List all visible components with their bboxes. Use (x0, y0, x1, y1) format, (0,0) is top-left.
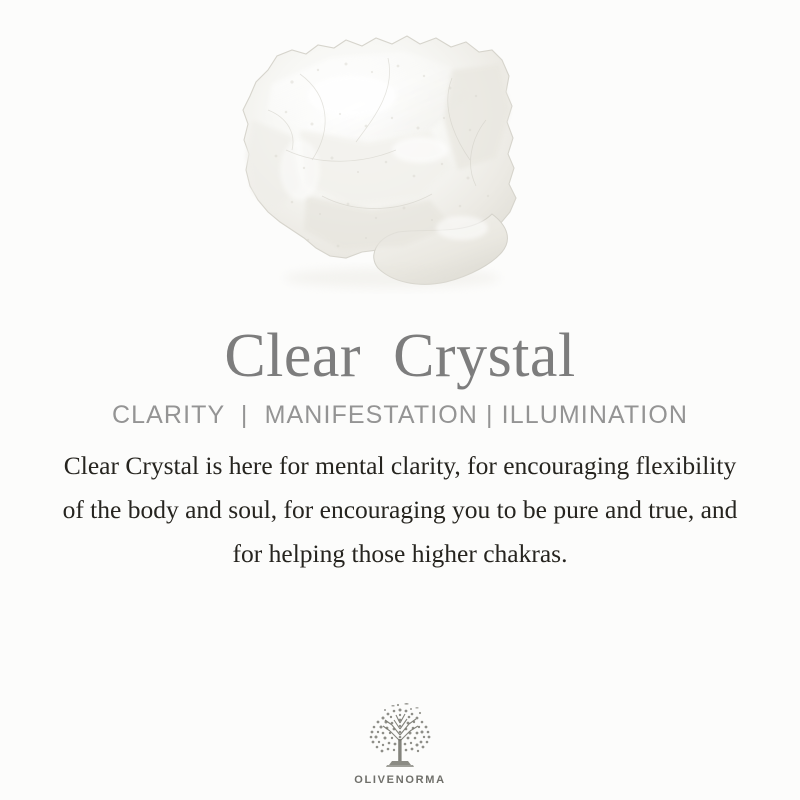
crystal-specular-4 (436, 216, 488, 240)
page-title: Clear Crystal (224, 320, 575, 392)
olive-tree-icon (354, 701, 446, 773)
clear-crystal-stone-image (0, 0, 800, 320)
crystal-specular-1 (308, 76, 396, 116)
brand-logo: OLIVENORMA (354, 701, 446, 786)
brand-wordmark: OLIVENORMA (354, 774, 446, 786)
crystal-image-container (0, 0, 800, 320)
crystal-specular-2 (392, 137, 448, 163)
crystal-shadow (284, 268, 500, 288)
birds-above-tree (384, 703, 421, 714)
crystal-specular-3 (280, 140, 320, 200)
description-text: Clear Crystal is here for mental clarity… (50, 444, 750, 576)
keyword-line: CLARITY | MANIFESTATION | ILLUMINATION (112, 392, 688, 438)
clear-crystal-info-card: Clear Crystal CLARITY | MANIFESTATION | … (0, 0, 800, 800)
